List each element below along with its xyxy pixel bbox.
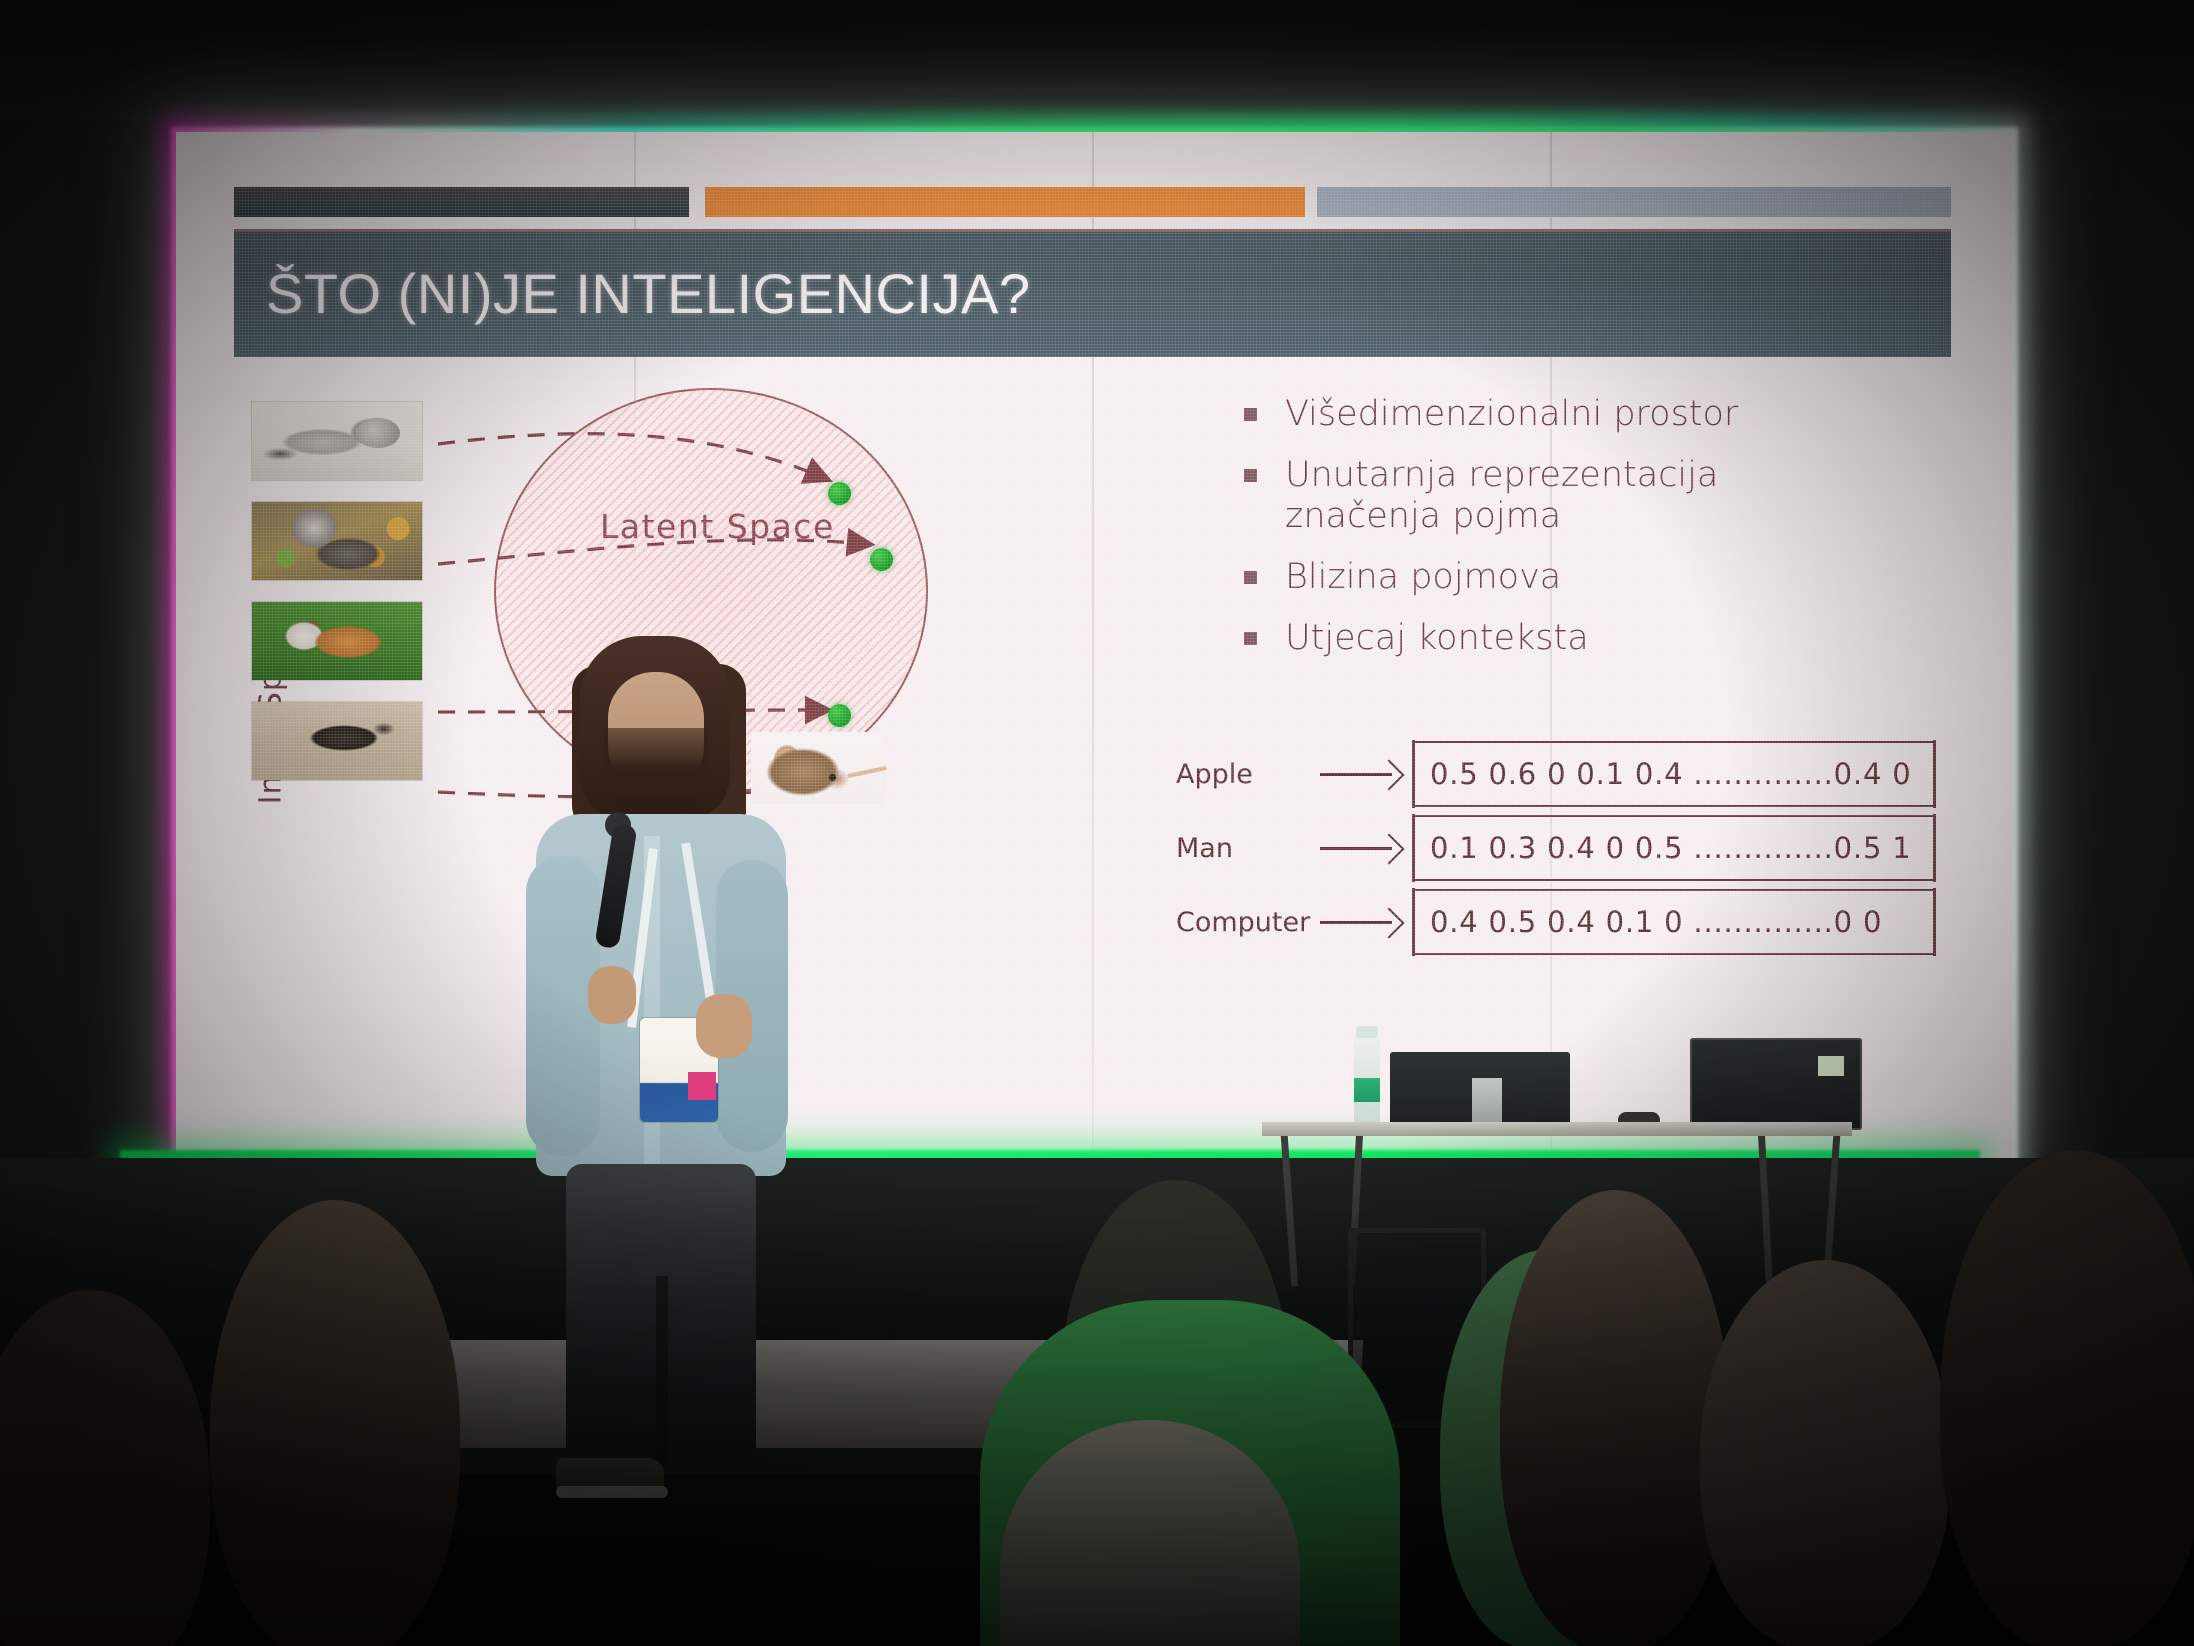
- badge-accent: [688, 1072, 716, 1100]
- matrix-row-label: Computer: [1176, 907, 1316, 938]
- bullet-square-icon: [1244, 571, 1257, 584]
- mouse-eye: [829, 774, 836, 781]
- bullet-item: Višedimenzionalni prostor: [1244, 394, 1804, 435]
- arrow-right-icon: [1316, 833, 1412, 863]
- bottle-cap: [1356, 1026, 1378, 1038]
- conference-talk-photo: ŠTO (NI)JE INTELIGENCIJA? Input Space La…: [0, 0, 2194, 1646]
- latent-point: [828, 704, 851, 727]
- ceiling-shadow: [0, 0, 2194, 120]
- matrix-row-values: 0.1 0.3 0.4 0 0.5 ..............0.5 1: [1412, 831, 1911, 865]
- matrix-row: Apple 0.5 0.6 0 0.1 0.4 ..............0.…: [1176, 737, 1936, 811]
- bullet-item: Blizina pojmova: [1244, 557, 1804, 598]
- audience-head: [1700, 1260, 1950, 1646]
- matrix-row-values: 0.5 0.6 0 0.1 0.4 ..............0.4 0: [1412, 757, 1911, 791]
- bottle-label: [1354, 1078, 1380, 1102]
- bullet-text: Utjecaj konteksta: [1285, 618, 1589, 659]
- laptop-screen-right: [1690, 1038, 1862, 1130]
- bullet-square-icon: [1244, 632, 1257, 645]
- latent-point: [828, 482, 851, 505]
- arrow-right-icon: [1316, 907, 1412, 937]
- bullet-text: Blizina pojmova: [1285, 557, 1561, 598]
- presenter-left-hand: [588, 966, 636, 1024]
- bullet-item: Utjecaj konteksta: [1244, 618, 1804, 659]
- matrix-bracket: 0.4 0.5 0.4 0.1 0 ..............0 0: [1412, 889, 1936, 955]
- bullet-square-icon: [1244, 469, 1257, 482]
- latent-point: [870, 548, 893, 571]
- audience-head: [1940, 1150, 2194, 1646]
- matrix-row: Computer 0.4 0.5 0.4 0.1 0 .............…: [1176, 885, 1936, 959]
- audience-head: [1500, 1190, 1730, 1646]
- screen-surface: ŠTO (NI)JE INTELIGENCIJA? Input Space La…: [176, 132, 2013, 1158]
- matrix-row-label: Apple: [1176, 759, 1316, 790]
- laptop-sticker: [1818, 1056, 1844, 1076]
- matrix-row: Man 0.1 0.3 0.4 0 0.5 ..............0.5 …: [1176, 811, 1936, 885]
- bullet-list: Višedimenzionalni prostor Unutarnja repr…: [1244, 394, 1804, 679]
- bullet-square-icon: [1244, 408, 1257, 421]
- bullet-item: Unutarnja reprezentacija značenja pojma: [1244, 455, 1804, 537]
- matrix-row-values: 0.4 0.5 0.4 0.1 0 ..............0 0: [1412, 905, 1882, 939]
- bullet-text: Višedimenzionalni prostor: [1285, 394, 1738, 435]
- slide: ŠTO (NI)JE INTELIGENCIJA? Input Space La…: [176, 132, 2013, 1158]
- bullet-text: Unutarnja reprezentacija značenja pojma: [1285, 455, 1804, 537]
- matrix-row-label: Man: [1176, 833, 1316, 864]
- presenter-right-hand: [696, 994, 752, 1058]
- matrix-bracket: 0.1 0.3 0.4 0 0.5 ..............0.5 1: [1412, 815, 1936, 881]
- drinking-glass: [1472, 1078, 1502, 1128]
- audience-head: [210, 1200, 460, 1646]
- matrix-bracket: 0.5 0.6 0 0.1 0.4 ..............0.4 0: [1412, 741, 1936, 807]
- embedding-matrix: Apple 0.5 0.6 0 0.1 0.4 ..............0.…: [1176, 737, 1936, 959]
- arrow-right-icon: [1316, 759, 1412, 789]
- tech-table: [1262, 1122, 1852, 1136]
- led-presentation-screen: ŠTO (NI)JE INTELIGENCIJA? Input Space La…: [176, 132, 2013, 1158]
